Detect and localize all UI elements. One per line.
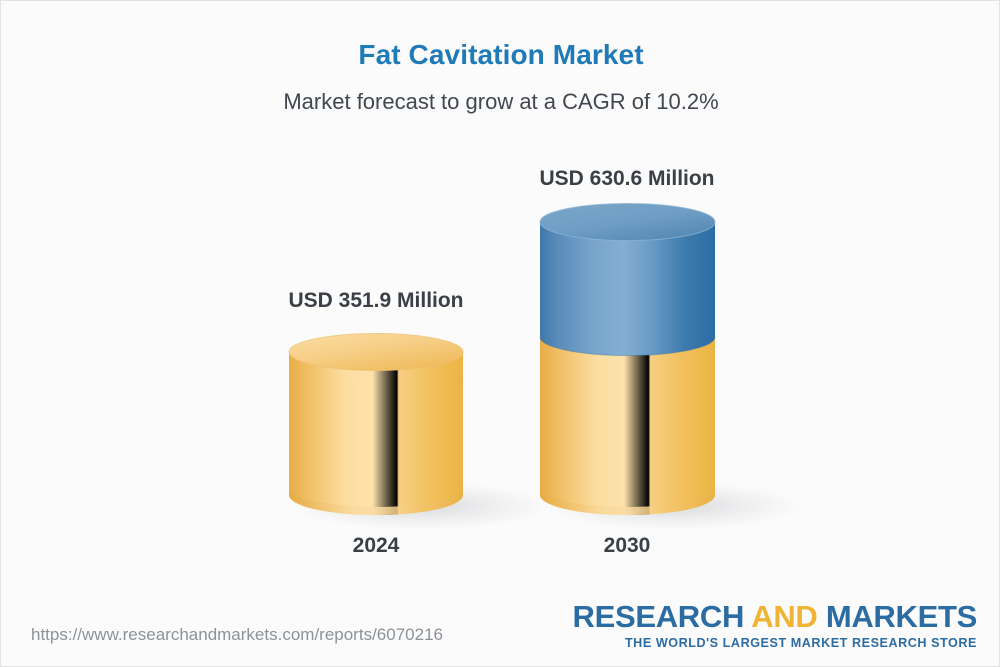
- bar-2030[interactable]: [540, 204, 801, 531]
- brand-name-part1: RESEARCH: [573, 599, 752, 634]
- brand-name-and: AND: [751, 599, 817, 634]
- bar-chart-plot: [1, 1, 1000, 667]
- bar-2024[interactable]: [289, 334, 549, 531]
- bar-2024-body: [289, 352, 463, 515]
- report-url[interactable]: https://www.researchandmarkets.com/repor…: [31, 625, 443, 645]
- bar-2030-category-label: 2030: [537, 534, 717, 558]
- chart-canvas: Fat Cavitation Market Market forecast to…: [0, 0, 1000, 667]
- brand-name: RESEARCH AND MARKETS: [573, 601, 978, 632]
- bar-2024-category-label: 2024: [286, 534, 466, 558]
- brand-name-part2: MARKETS: [818, 599, 978, 634]
- brand-logo[interactable]: RESEARCH AND MARKETS THE WORLD'S LARGEST…: [573, 601, 978, 650]
- bar-2030-value-label: USD 630.6 Million: [437, 167, 817, 191]
- brand-tagline: THE WORLD'S LARGEST MARKET RESEARCH STOR…: [573, 637, 978, 650]
- bar-2030-gold-segment: [540, 337, 715, 515]
- bar-2030-blue-segment: [540, 222, 715, 356]
- bar-2024-value-label: USD 351.9 Million: [186, 289, 566, 313]
